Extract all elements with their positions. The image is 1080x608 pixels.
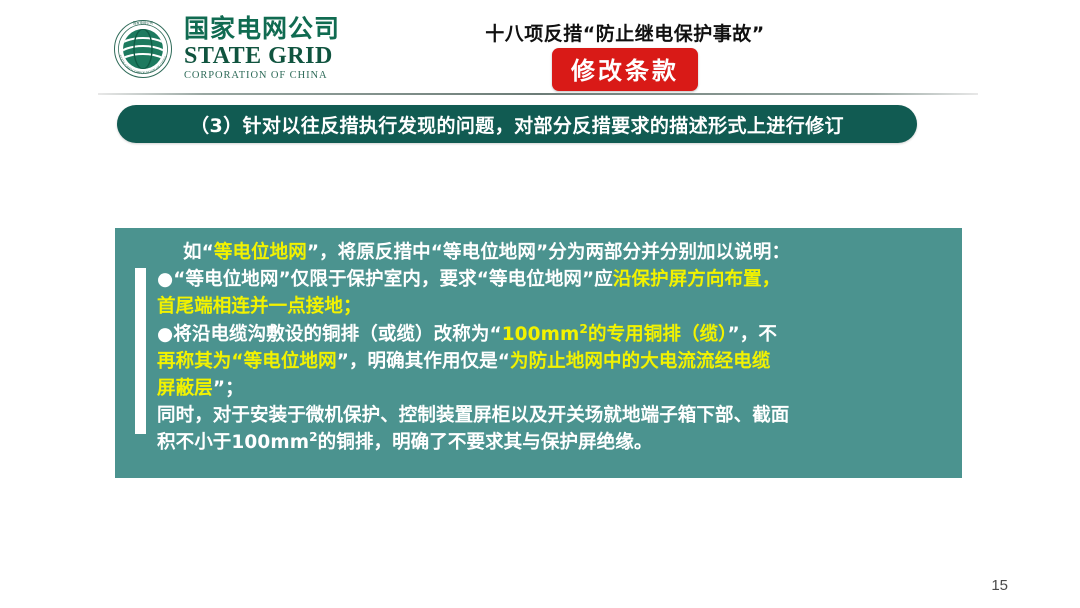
header-badge-wrap: 修改条款 bbox=[382, 66, 698, 83]
header-title-text: 十八项反措“防止继电保护事故” bbox=[315, 23, 764, 45]
highlighted-text: 等电位地网 bbox=[214, 242, 307, 263]
body-text: 积不小于100mm bbox=[157, 433, 309, 454]
header-title: 十八项反措“防止继电保护事故” bbox=[0, 19, 1080, 46]
highlighted-text: 100mm bbox=[502, 324, 580, 345]
slide-canvas: 国家电网公司 STATE GRID CORPORATION OF CHINA 国… bbox=[0, 0, 1080, 608]
content-accent-bar bbox=[135, 268, 146, 434]
body-text: 如“ bbox=[183, 242, 214, 263]
content-line: 如“等电位地网”，将原反措中“等电位地网”分为两部分并分别加以说明： bbox=[157, 239, 950, 266]
header-divider bbox=[98, 93, 978, 95]
body-text: 的铜排，明确了不要求其与保护屏绝缘。 bbox=[318, 433, 653, 454]
highlighted-text: 沿保护屏方向布置， bbox=[613, 269, 780, 290]
highlighted-text: 屏蔽层 bbox=[157, 378, 213, 399]
body-text: ”，不 bbox=[728, 324, 777, 345]
body-text: ”，将原反措中“等电位地网”分为两部分并分别加以说明： bbox=[307, 242, 790, 263]
status-badge: 修改条款 bbox=[552, 48, 698, 91]
body-text: ”； bbox=[213, 378, 244, 399]
highlighted-text: 再称其为“ bbox=[157, 351, 244, 372]
content-panel: 如“等电位地网”，将原反措中“等电位地网”分为两部分并分别加以说明：●“等电位地… bbox=[115, 228, 962, 478]
content-line: 同时，对于安装于微机保护、控制装置屏柜以及开关场就地端子箱下部、截面 bbox=[157, 402, 950, 429]
content-line: 屏蔽层”； bbox=[157, 375, 950, 402]
content-line: ●“等电位地网”仅限于保护室内，要求“等电位地网”应沿保护屏方向布置， bbox=[157, 266, 950, 293]
superscript-unit: 2 bbox=[579, 322, 588, 336]
body-text: ”，明确其作用仅是“ bbox=[337, 351, 510, 372]
superscript-unit: 2 bbox=[309, 430, 318, 444]
content-line: 积不小于100mm2的铜排，明确了不要求其与保护屏绝缘。 bbox=[157, 429, 950, 456]
section-banner: （3）针对以往反措执行发现的问题，对部分反措要求的描述形式上进行修订 bbox=[117, 105, 917, 143]
highlighted-text: 首尾端相连并一点接地； bbox=[157, 296, 362, 317]
body-text: ●将沿电缆沟敷设的铜排（或缆）改称为“ bbox=[157, 324, 502, 345]
content-line: 再称其为“等电位地网”，明确其作用仅是“为防止地网中的大电流流经电缆 bbox=[157, 348, 950, 375]
body-text: 同时，对于安装于微机保护、控制装置屏柜以及开关场就地端子箱下部、截面 bbox=[157, 405, 789, 426]
highlighted-text: 为防止地网中的大电流流经电缆 bbox=[510, 351, 770, 372]
section-banner-label: （3）针对以往反措执行发现的问题，对部分反措要求的描述形式上进行修订 bbox=[190, 111, 844, 138]
header-badge-row: 修改条款 bbox=[0, 48, 1080, 91]
body-text: ●“等电位地网”仅限于保护室内，要求“等电位地网”应 bbox=[157, 269, 613, 290]
slide-header: 国家电网公司 STATE GRID CORPORATION OF CHINA 国… bbox=[0, 0, 1080, 96]
content-body: 如“等电位地网”，将原反措中“等电位地网”分为两部分并分别加以说明：●“等电位地… bbox=[157, 239, 950, 457]
highlighted-text: 的专用铜排（缆） bbox=[588, 324, 728, 345]
highlighted-text: 等电位地网 bbox=[244, 351, 337, 372]
content-line: 首尾端相连并一点接地； bbox=[157, 293, 950, 320]
page-number: 15 bbox=[991, 577, 1008, 594]
content-line: ●将沿电缆沟敷设的铜排（或缆）改称为“100mm2的专用铜排（缆）”，不 bbox=[157, 321, 950, 348]
